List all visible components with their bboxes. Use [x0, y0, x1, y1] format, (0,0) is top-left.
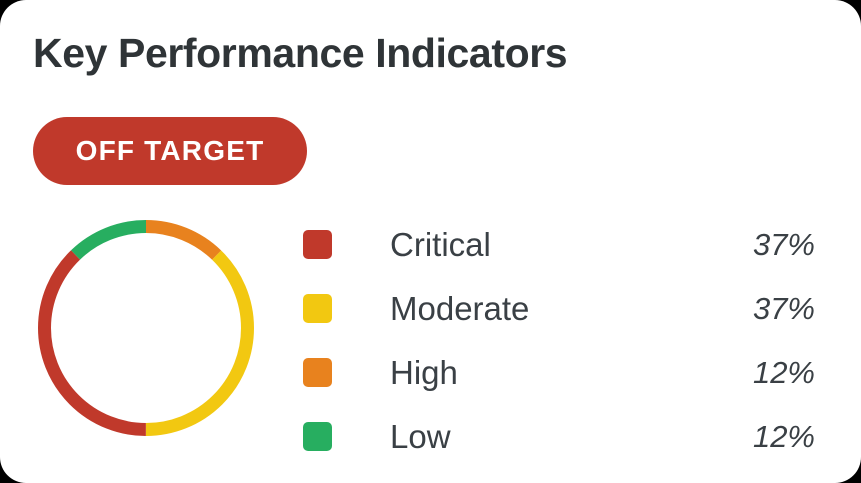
donut-chart — [38, 220, 254, 436]
legend-swatch-low — [303, 422, 332, 451]
legend-row[interactable]: Low 12% — [303, 404, 815, 468]
legend-label-high: High — [390, 356, 458, 389]
donut-chart-svg — [38, 220, 254, 436]
legend-swatch-high — [303, 358, 332, 387]
legend-value-high: 12% — [753, 357, 815, 388]
legend-row[interactable]: High 12% — [303, 340, 815, 404]
legend-value-moderate: 37% — [753, 293, 815, 324]
page-title: Key Performance Indicators — [33, 33, 567, 74]
legend-value-critical: 37% — [753, 229, 815, 260]
legend-value-low: 12% — [753, 421, 815, 452]
legend-swatch-moderate — [303, 294, 332, 323]
legend-label-moderate: Moderate — [390, 292, 529, 325]
status-badge[interactable]: OFF TARGET — [33, 117, 307, 185]
kpi-card: Key Performance Indicators OFF TARGET Cr… — [0, 0, 861, 483]
legend-label-critical: Critical — [390, 228, 491, 261]
legend-swatch-critical — [303, 230, 332, 259]
legend-row[interactable]: Critical 37% — [303, 212, 815, 276]
legend-label-low: Low — [390, 420, 451, 453]
legend: Critical 37% Moderate 37% High 12% Low 1… — [303, 212, 815, 468]
status-badge-label: OFF TARGET — [76, 135, 265, 167]
legend-row[interactable]: Moderate 37% — [303, 276, 815, 340]
